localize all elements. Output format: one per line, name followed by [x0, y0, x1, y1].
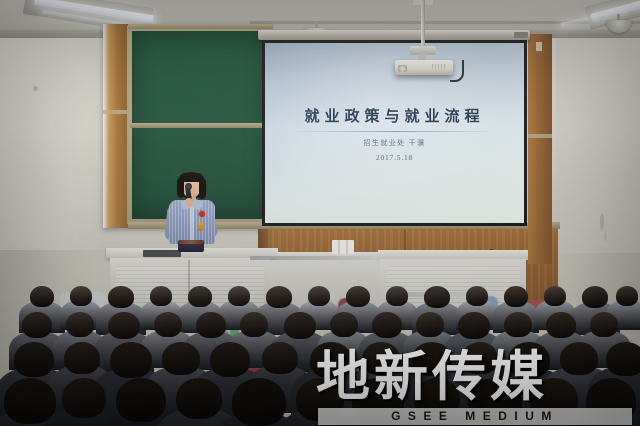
- audience-member-head: [544, 286, 566, 306]
- audience-member-head: [110, 342, 152, 378]
- projector-lens: [398, 65, 407, 72]
- audience-member-head: [176, 378, 222, 419]
- audience-member-head: [22, 312, 52, 338]
- audience-member-head: [308, 286, 330, 306]
- chalkboard-post-joint: [103, 110, 129, 114]
- audience-member-head: [14, 342, 54, 377]
- audience-member-head: [228, 286, 250, 306]
- presenter-hand: [185, 198, 193, 207]
- audience-member-head: [196, 312, 226, 338]
- projector-vent: [432, 64, 446, 70]
- audience-member-head: [616, 286, 638, 306]
- audience-member-head: [64, 342, 100, 374]
- audience-member-head: [154, 312, 182, 337]
- audience-member-head: [266, 286, 292, 308]
- presenter-lanyard-tag: [198, 222, 203, 231]
- audience-member-head: [284, 312, 316, 339]
- watermark: 地新传媒 GSEE MEDIUM: [316, 348, 634, 422]
- slide-date: 2017.5.18: [265, 153, 524, 162]
- audience-member-head: [232, 378, 286, 426]
- projection-screen-housing-cap: [514, 32, 528, 38]
- audience-member-head: [162, 342, 200, 375]
- wood-pilaster-right: [528, 34, 552, 264]
- watermark-chinese: 地新传媒: [316, 348, 634, 406]
- presenter-hair-right: [199, 178, 206, 199]
- chalkboard-top-rail: [128, 24, 273, 29]
- audience-member-head: [458, 312, 490, 339]
- chalkboard-chalk-rail: [130, 123, 271, 128]
- audience-member-head: [240, 312, 268, 337]
- audience-member-head: [466, 286, 488, 306]
- audience-member-head: [108, 312, 140, 339]
- audience-member-head: [108, 286, 134, 308]
- audience-member-head: [546, 312, 576, 338]
- presenter-badge: [199, 211, 205, 217]
- audience-member-head: [346, 286, 370, 307]
- wall-plate: [536, 42, 542, 51]
- slide-subtitle: 招生就业处 干骥: [265, 138, 524, 148]
- audience-member-head: [116, 378, 166, 422]
- wall-mark-right-upper: [600, 214, 604, 230]
- audience-member-head: [188, 286, 212, 307]
- slide-title: 就业政策与就业流程: [265, 105, 524, 126]
- audience-member-head: [210, 342, 250, 377]
- audience-member-head: [262, 342, 298, 374]
- lecture-hall-photo: 就业政策与就业流程 招生就业处 干骥 2017.5.18: [0, 0, 640, 426]
- watermark-english: GSEE MEDIUM: [318, 408, 632, 425]
- audience-member-head: [504, 312, 532, 337]
- slide-divider-rule: [291, 131, 498, 132]
- audience-member-head: [386, 286, 408, 306]
- audience-member-head: [590, 312, 618, 337]
- presenter-hair-left: [177, 178, 184, 198]
- audience-member-head: [582, 286, 608, 308]
- audience-member-head: [330, 312, 358, 337]
- audience-member-head: [150, 286, 172, 306]
- microphone-head: [185, 183, 192, 190]
- right-wall: [556, 38, 640, 253]
- projection-screen-housing: [258, 30, 530, 40]
- wood-pilaster-joint: [528, 134, 552, 138]
- audience-member-head: [416, 312, 444, 337]
- audience-member-head: [504, 286, 528, 307]
- chalkboard-left-post: [103, 24, 129, 228]
- audience-member-head: [424, 286, 450, 308]
- audience-member-head: [62, 378, 106, 418]
- audience-member-head: [4, 378, 56, 424]
- audience-member-head: [70, 286, 92, 306]
- audience-member-head: [66, 312, 94, 337]
- projector-pole: [421, 0, 425, 50]
- left-wall: [0, 38, 104, 250]
- projector-cable: [450, 60, 464, 82]
- wall-mark-left: [33, 86, 38, 91]
- audience-member-head: [372, 312, 402, 338]
- audience-member-head: [30, 286, 54, 307]
